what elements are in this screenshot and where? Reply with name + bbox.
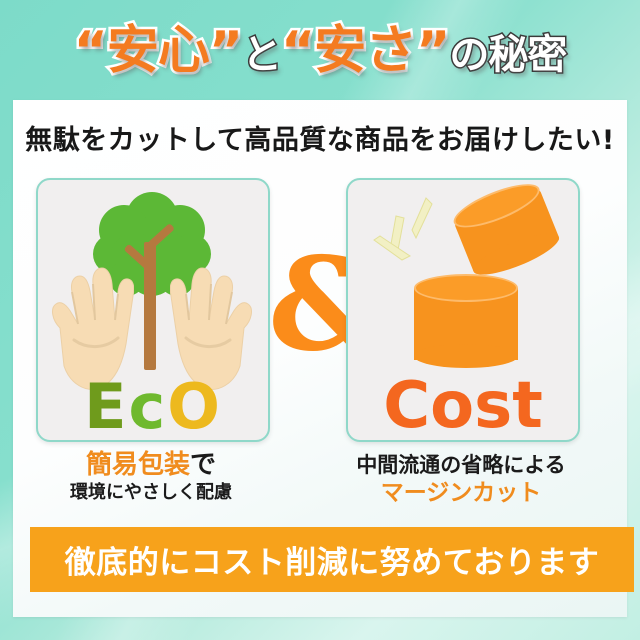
eco-wordmark: EcO bbox=[38, 376, 268, 438]
bottom-banner: 徹底的にコスト削減に努めております bbox=[30, 527, 634, 592]
bottom-banner-text: 徹底的にコスト削減に努めております bbox=[65, 537, 600, 582]
eco-caption-suffix: で bbox=[190, 450, 216, 480]
eco-caption: 簡易包装で 環境にやさしく配慮 bbox=[36, 450, 266, 506]
headline-text: 無駄をカットして高品質な商品をお届けしたい! bbox=[13, 118, 627, 157]
eco-caption-highlight: 簡易包装 bbox=[86, 450, 190, 480]
title-part-yasusa: “安さ” bbox=[281, 21, 449, 81]
title-part-anshin: “安心” bbox=[74, 21, 242, 81]
eco-caption-sub: 環境にやさしく配慮 bbox=[36, 480, 266, 506]
cost-caption-main: 中間流通の省略による bbox=[346, 450, 576, 480]
cost-caption-sub: マージンカット bbox=[346, 480, 576, 506]
coin-can-icon bbox=[414, 274, 518, 368]
eco-card: EcO bbox=[36, 178, 270, 442]
eco-letter-c: c bbox=[128, 370, 167, 443]
eco-letter-o: O bbox=[167, 370, 222, 443]
promo-banner-image: “安心”と“安さ”の秘密 無駄をカットして高品質な商品をお届けしたい! bbox=[0, 0, 640, 640]
spark-icon bbox=[366, 194, 444, 264]
eco-letter-e: E bbox=[84, 370, 128, 443]
cost-wordmark: Cost bbox=[348, 372, 578, 440]
cost-caption: 中間流通の省略による マージンカット bbox=[346, 450, 576, 506]
flying-lid-icon bbox=[449, 176, 564, 283]
content-panel: 無駄をカットして高品質な商品をお届けしたい! bbox=[13, 100, 627, 617]
cost-card: Cost bbox=[346, 178, 580, 442]
title-part-to: と bbox=[242, 32, 281, 78]
title-part-himitsu: の秘密 bbox=[449, 32, 566, 78]
eco-caption-main: 簡易包装で bbox=[36, 450, 266, 480]
page-title: “安心”と“安さ”の秘密 bbox=[0, 12, 640, 90]
tree-trunk bbox=[144, 242, 156, 370]
